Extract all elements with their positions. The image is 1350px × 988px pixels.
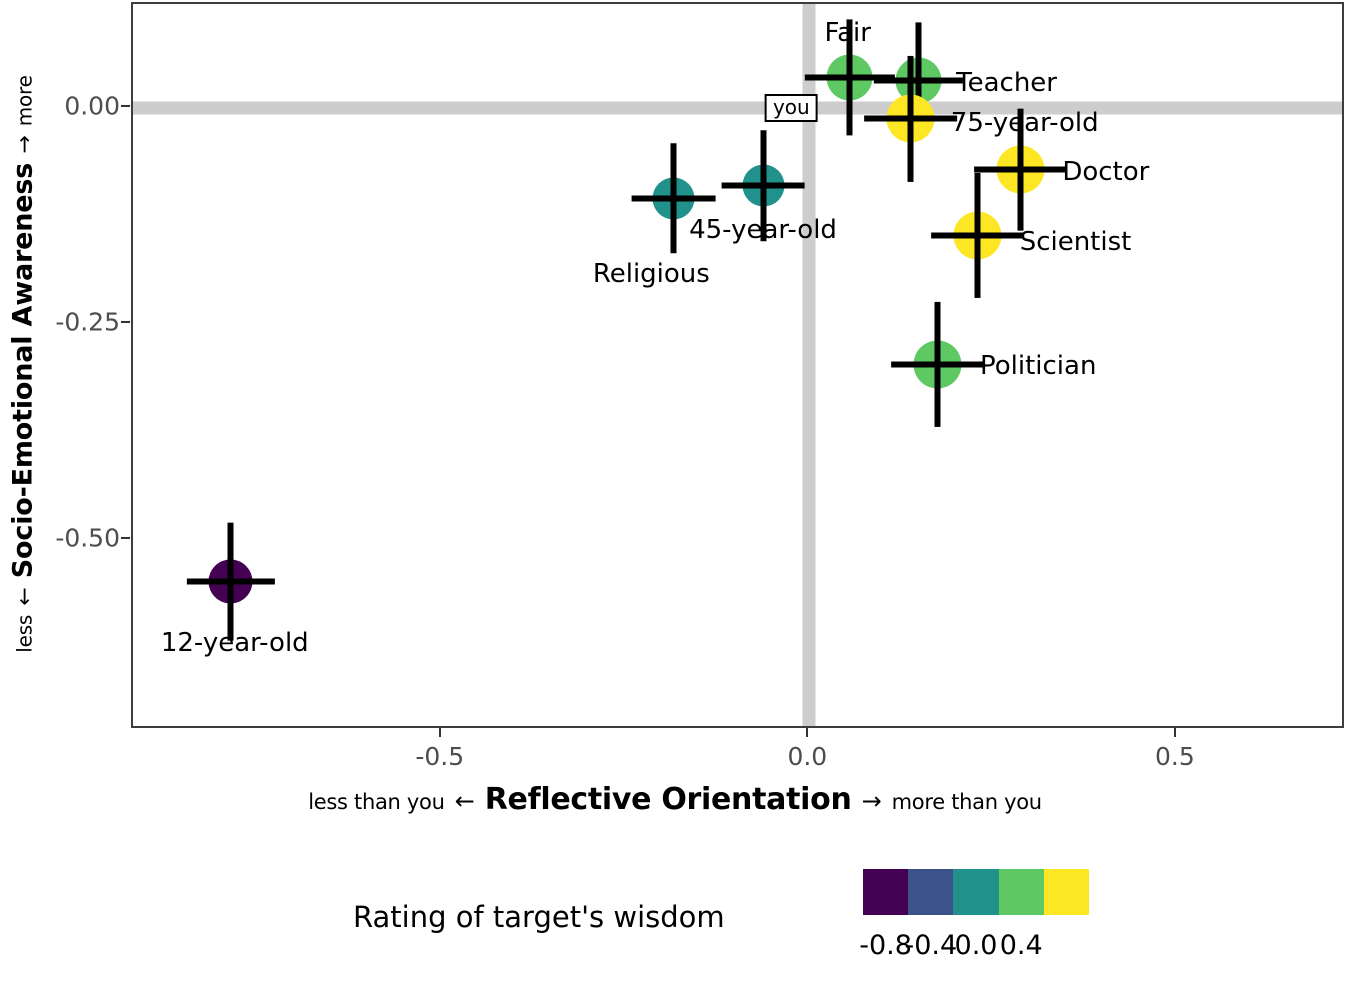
error-bar-horizontal	[974, 167, 1067, 173]
x-tick-mark	[439, 728, 441, 737]
error-bar-horizontal	[892, 361, 985, 367]
data-point-label: Fair	[825, 18, 871, 48]
data-point[interactable]	[230, 581, 231, 582]
x-axis-title: less than you ← Reflective Orientation →…	[0, 782, 1350, 817]
y-axis-title: less ← Socio-Emotional Awareness → more	[8, 75, 39, 653]
x-axis-main-label: Reflective Orientation	[485, 782, 852, 817]
y-axis-main-label: Socio-Emotional Awareness	[8, 163, 39, 578]
data-point[interactable]	[849, 77, 850, 78]
data-point[interactable]	[673, 198, 674, 199]
y-axis-high-arrow-icon: →	[13, 135, 38, 153]
scatter-plot-figure: less ← Socio-Emotional Awareness → more …	[0, 0, 1350, 988]
data-point[interactable]	[1020, 169, 1021, 170]
y-axis-high-label: more	[13, 75, 37, 126]
y-axis-low-label: less	[13, 615, 37, 653]
legend-tick-label: 0.0	[955, 930, 998, 961]
origin-you-label: you	[765, 94, 818, 122]
data-point[interactable]	[937, 364, 938, 365]
legend-color-swatch	[999, 869, 1044, 915]
y-axis-low-arrow-icon: ←	[13, 587, 38, 605]
y-tick-label: 0.00	[34, 91, 120, 120]
x-tick-mark	[1174, 728, 1176, 737]
data-point[interactable]	[977, 235, 978, 236]
legend-color-swatch	[908, 869, 953, 915]
y-tick-label: -0.25	[34, 307, 120, 336]
x-axis-left-arrow-icon: ←	[455, 787, 475, 815]
error-bar-horizontal	[864, 116, 957, 122]
y-tick-mark	[121, 321, 130, 323]
error-bar-horizontal	[187, 578, 274, 584]
legend-color-swatch	[863, 869, 908, 915]
data-point-label: 75-year-old	[951, 108, 1099, 138]
x-tick-label: 0.5	[1155, 742, 1195, 771]
y-tick-mark	[121, 105, 130, 107]
error-bar-horizontal	[721, 183, 805, 189]
y-tick-mark	[121, 537, 130, 539]
x-axis-right-label: more than you	[892, 790, 1042, 814]
data-point-label: Teacher	[956, 68, 1057, 98]
y-tick-label: -0.50	[34, 523, 120, 552]
error-bar-horizontal	[931, 233, 1024, 239]
data-point-label: Scientist	[1020, 227, 1132, 257]
data-point-label: Doctor	[1062, 157, 1149, 187]
legend-tick-label: 0.4	[1000, 930, 1043, 961]
plot-panel: FairTeacher75-year-oldDoctorScientistPol…	[131, 2, 1344, 728]
data-point-label: 12-year-old	[161, 628, 309, 658]
x-tick-label: -0.5	[415, 742, 464, 771]
data-point-label: Politician	[980, 351, 1096, 381]
legend-colorbar	[863, 869, 1089, 915]
x-axis-right-arrow-icon: →	[862, 787, 882, 815]
legend-tick-label: -0.4	[904, 930, 957, 961]
data-point-label: 45-year-old	[689, 215, 837, 245]
x-tick-label: 0.0	[787, 742, 827, 771]
x-axis-left-label: less than you	[308, 790, 444, 814]
horizontal-reference-line	[133, 101, 1342, 114]
error-bar-horizontal	[631, 195, 715, 201]
data-point[interactable]	[918, 80, 919, 81]
data-point[interactable]	[763, 185, 764, 186]
x-tick-mark	[806, 728, 808, 737]
legend-color-swatch	[953, 869, 998, 915]
error-bar-horizontal	[874, 78, 963, 84]
legend-title: Rating of target's wisdom	[353, 900, 725, 934]
legend-color-swatch	[1044, 869, 1089, 915]
data-point-label: Religious	[593, 259, 710, 289]
data-point[interactable]	[910, 118, 911, 119]
